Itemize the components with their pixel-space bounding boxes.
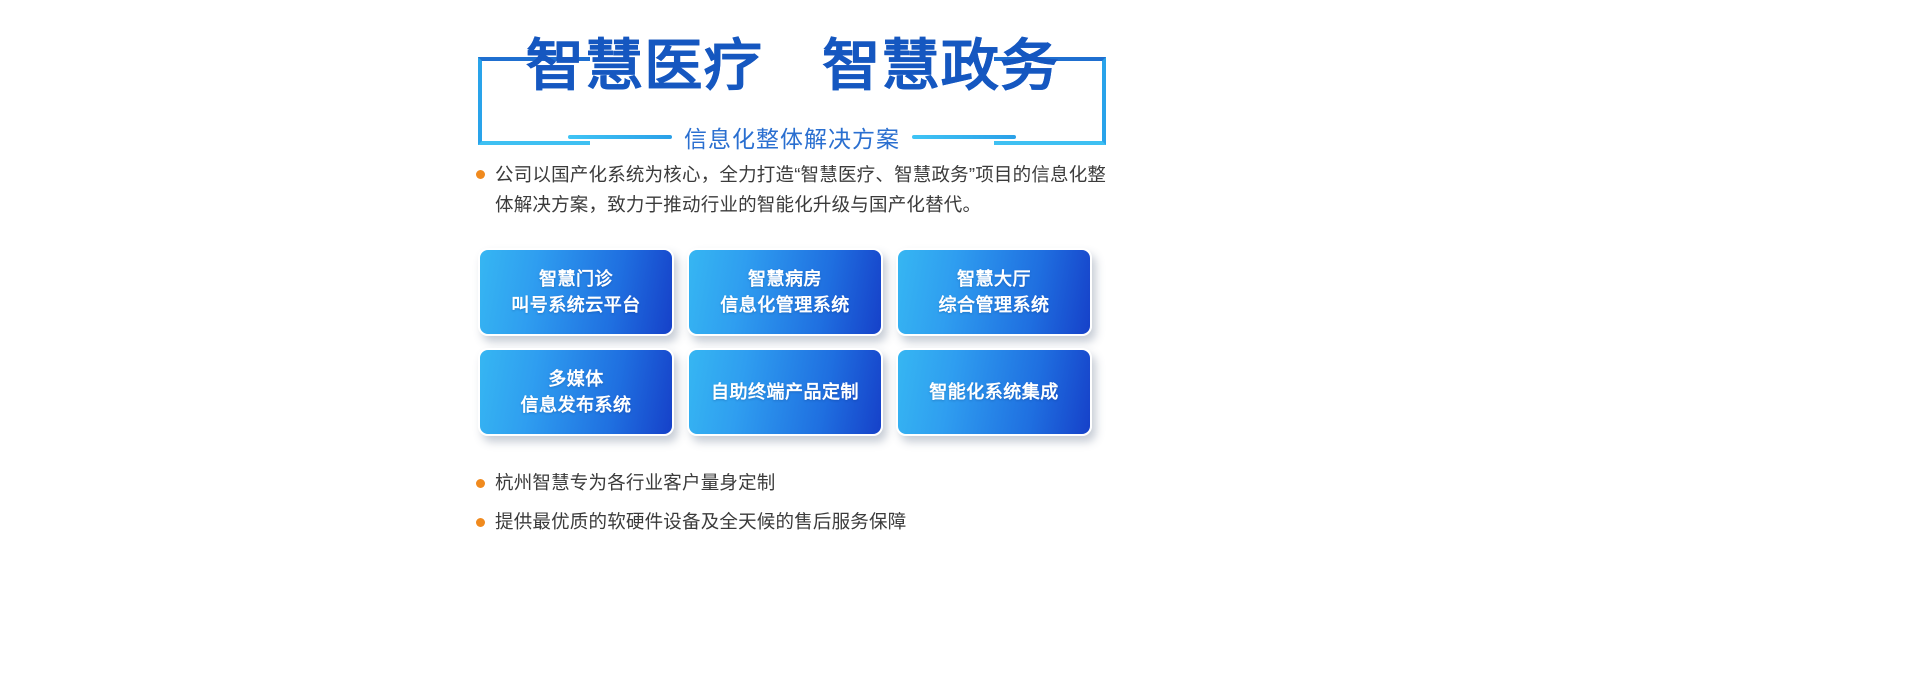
page-subtitle: 信息化整体解决方案: [684, 120, 900, 154]
card-label: 智慧门诊 叫号系统云平台: [511, 266, 641, 318]
card-label: 智慧病房 信息化管理系统: [720, 266, 850, 318]
bullet-text: 提供最优质的软硬件设备及全天候的售后服务保障: [495, 509, 906, 535]
card-line-2: 叫号系统云平台: [511, 292, 641, 318]
card-line-1: 智慧病房: [720, 266, 850, 292]
card-smart-outpatient[interactable]: 智慧门诊 叫号系统云平台: [478, 248, 674, 336]
card-line-1: 智能化系统集成: [929, 379, 1059, 405]
card-line-1: 智慧门诊: [511, 266, 641, 292]
banner-title-row: 智慧医疗 智慧政务: [478, 38, 1106, 94]
bullet-dot-icon: [476, 170, 485, 179]
card-intelligent-system-integration[interactable]: 智能化系统集成: [896, 348, 1092, 436]
solution-card-grid: 智慧门诊 叫号系统云平台 智慧病房 信息化管理系统 智慧大厅 综合管理系统 多媒…: [478, 248, 1092, 436]
card-line-2: 综合管理系统: [939, 292, 1050, 318]
card-line-2: 信息化管理系统: [720, 292, 850, 318]
feature-bullet-list: 杭州智慧专为各行业客户量身定制 提供最优质的软硬件设备及全天候的售后服务保障: [476, 470, 1116, 548]
banner-header: 智慧医疗 智慧政务 信息化整体解决方案: [478, 22, 1106, 140]
card-smart-hall[interactable]: 智慧大厅 综合管理系统: [896, 248, 1092, 336]
card-line-1: 多媒体: [521, 366, 632, 392]
card-line-1: 自助终端产品定制: [711, 379, 859, 405]
card-line-1: 智慧大厅: [939, 266, 1050, 292]
page-root: 智慧医疗 智慧政务 信息化整体解决方案 公司以国产化系统为核心，全力打造“智慧医…: [0, 0, 1920, 680]
banner-subtitle-row: 信息化整体解决方案: [478, 120, 1106, 154]
card-multimedia-publishing[interactable]: 多媒体 信息发布系统: [478, 348, 674, 436]
list-item: 杭州智慧专为各行业客户量身定制: [476, 470, 1116, 496]
list-item: 提供最优质的软硬件设备及全天候的售后服务保障: [476, 509, 1116, 535]
card-label: 多媒体 信息发布系统: [521, 366, 632, 418]
card-smart-ward[interactable]: 智慧病房 信息化管理系统: [687, 248, 883, 336]
subtitle-rule-right: [912, 135, 1016, 139]
card-self-service-terminal[interactable]: 自助终端产品定制: [687, 348, 883, 436]
intro-text: 公司以国产化系统为核心，全力打造“智慧医疗、智慧政务”项目的信息化整体解决方案，…: [495, 160, 1116, 220]
bullet-dot-icon: [476, 518, 485, 527]
subtitle-rule-left: [568, 135, 672, 139]
card-label: 智能化系统集成: [929, 379, 1059, 405]
card-label: 智慧大厅 综合管理系统: [939, 266, 1050, 318]
bullet-dot-icon: [476, 479, 485, 488]
page-title: 智慧医疗 智慧政务: [525, 38, 1059, 94]
intro-paragraph: 公司以国产化系统为核心，全力打造“智慧医疗、智慧政务”项目的信息化整体解决方案，…: [476, 160, 1116, 220]
card-label: 自助终端产品定制: [711, 379, 859, 405]
bullet-text: 杭州智慧专为各行业客户量身定制: [495, 470, 776, 496]
card-line-2: 信息发布系统: [521, 392, 632, 418]
